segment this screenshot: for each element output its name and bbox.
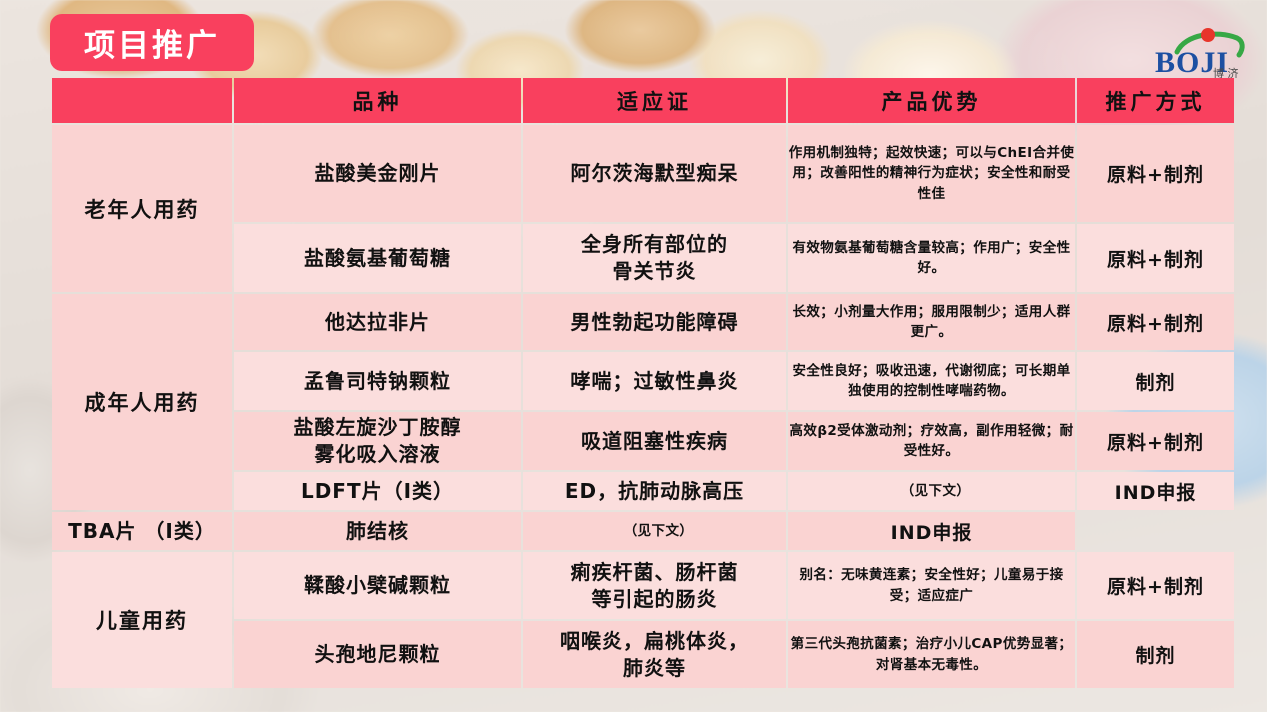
mode-cell: 制剂 <box>1077 621 1234 688</box>
indication-cell-line: 骨关节炎 <box>523 258 786 285</box>
indication-cell-line: 咽喉炎，扁桃体炎， <box>523 628 786 655</box>
variety-cell: LDFT片（Ⅰ类） <box>234 472 521 510</box>
indication-cell-line: 肺炎等 <box>523 655 786 682</box>
column-header-category <box>52 78 232 123</box>
category-cell: 成年人用药 <box>52 294 232 510</box>
variety-cell: 盐酸氨基葡萄糖 <box>234 224 521 292</box>
mode-cell: 原料+制剂 <box>1077 125 1234 222</box>
indication-cell-line: 痢疾杆菌、肠杆菌 <box>523 559 786 586</box>
variety-cell: 他达拉非片 <box>234 294 521 350</box>
promotion-table-wrapper: 品种 适应证 产品优势 推广方式 老年人用药盐酸美金刚片阿尔茨海默型痴呆作用机制… <box>50 76 1228 690</box>
table-row: 成年人用药他达拉非片男性勃起功能障碍长效；小剂量大作用；服用限制少；适用人群更广… <box>52 294 1234 350</box>
column-header-mode: 推广方式 <box>1077 78 1234 123</box>
indication-cell: 痢疾杆菌、肠杆菌等引起的肠炎 <box>523 552 786 619</box>
mode-cell: 原料+制剂 <box>1077 412 1234 470</box>
mode-cell: IND申报 <box>1077 472 1234 510</box>
slide-root: 项目推广 BOJI 博 济 品种 适应证 产品优势 推广方式 老年 <box>0 0 1267 712</box>
mode-cell: 原料+制剂 <box>1077 294 1234 350</box>
indication-cell: 全身所有部位的骨关节炎 <box>523 224 786 292</box>
boji-logo: BOJI 博 济 <box>1151 22 1259 78</box>
mode-cell: 制剂 <box>1077 352 1234 410</box>
slide-title-chip: 项目推广 <box>50 14 254 71</box>
column-header-advantage: 产品优势 <box>788 78 1075 123</box>
mode-cell: IND申报 <box>788 512 1075 550</box>
variety-cell-line: 雾化吸入溶液 <box>234 441 521 468</box>
indication-cell: 肺结核 <box>234 512 521 550</box>
indication-cell: 男性勃起功能障碍 <box>523 294 786 350</box>
logo-dot-icon <box>1201 28 1215 42</box>
advantage-cell: 别名：无味黄连素；安全性好；儿童易于接受；适应症广 <box>788 552 1075 619</box>
advantage-cell: 高效β2受体激动剂；疗效高，副作用轻微；耐受性好。 <box>788 412 1075 470</box>
advantage-cell: 有效物氨基葡萄糖含量较高；作用广；安全性好。 <box>788 224 1075 292</box>
indication-cell: 吸道阻塞性疾病 <box>523 412 786 470</box>
logo-mark: BOJI 博 济 <box>1151 22 1259 78</box>
indication-cell: ED，抗肺动脉高压 <box>523 472 786 510</box>
column-header-variety: 品种 <box>234 78 521 123</box>
variety-cell: 鞣酸小檗碱颗粒 <box>234 552 521 619</box>
mode-cell: 原料+制剂 <box>1077 224 1234 292</box>
table-header-row: 品种 适应证 产品优势 推广方式 <box>52 78 1234 123</box>
advantage-cell: （见下文） <box>523 512 786 550</box>
advantage-cell: 第三代头孢抗菌素；治疗小儿CAP优势显著；对肾基本无毒性。 <box>788 621 1075 688</box>
indication-cell: 哮喘；过敏性鼻炎 <box>523 352 786 410</box>
indication-cell-line: 等引起的肠炎 <box>523 586 786 613</box>
advantage-cell: 作用机制独特；起效快速；可以与ChEI合并使用；改善阳性的精神行为症状；安全性和… <box>788 125 1075 222</box>
mode-cell: 原料+制剂 <box>1077 552 1234 619</box>
table-row: 儿童用药鞣酸小檗碱颗粒痢疾杆菌、肠杆菌等引起的肠炎别名：无味黄连素；安全性好；儿… <box>52 552 1234 619</box>
table-row: 老年人用药盐酸美金刚片阿尔茨海默型痴呆作用机制独特；起效快速；可以与ChEI合并… <box>52 125 1234 222</box>
variety-cell: 头孢地尼颗粒 <box>234 621 521 688</box>
table-body: 老年人用药盐酸美金刚片阿尔茨海默型痴呆作用机制独特；起效快速；可以与ChEI合并… <box>52 125 1234 688</box>
slide-title: 项目推广 <box>84 20 220 65</box>
indication-cell-line: 全身所有部位的 <box>523 231 786 258</box>
category-cell: 儿童用药 <box>52 552 232 688</box>
variety-cell: 孟鲁司特钠颗粒 <box>234 352 521 410</box>
category-cell: 老年人用药 <box>52 125 232 292</box>
variety-cell-line: 盐酸左旋沙丁胺醇 <box>234 414 521 441</box>
variety-cell: 盐酸美金刚片 <box>234 125 521 222</box>
column-header-indication: 适应证 <box>523 78 786 123</box>
logo-subtext: 博 济 <box>1213 66 1239 78</box>
variety-cell: 盐酸左旋沙丁胺醇雾化吸入溶液 <box>234 412 521 470</box>
advantage-cell: 长效；小剂量大作用；服用限制少；适用人群更广。 <box>788 294 1075 350</box>
table-row: TBA片 （Ⅰ类）肺结核（见下文）IND申报 <box>52 512 1234 550</box>
promotion-table: 品种 适应证 产品优势 推广方式 老年人用药盐酸美金刚片阿尔茨海默型痴呆作用机制… <box>50 76 1236 690</box>
advantage-cell: 安全性良好；吸收迅速，代谢彻底；可长期单独使用的控制性哮喘药物。 <box>788 352 1075 410</box>
indication-cell: 咽喉炎，扁桃体炎，肺炎等 <box>523 621 786 688</box>
advantage-cell: （见下文） <box>788 472 1075 510</box>
indication-cell: 阿尔茨海默型痴呆 <box>523 125 786 222</box>
variety-cell: TBA片 （Ⅰ类） <box>52 512 232 550</box>
